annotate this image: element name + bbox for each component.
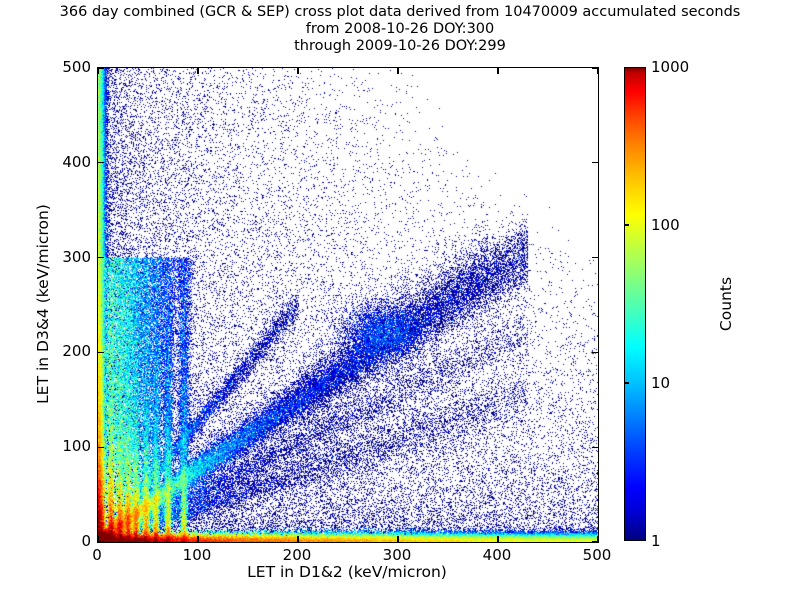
y-tick-mark: [592, 257, 598, 258]
x-tick-mark: [497, 68, 498, 74]
y-tick-mark: [98, 352, 104, 353]
y-tick-label: 400: [62, 153, 91, 171]
x-tick-label: 200: [283, 546, 312, 564]
colorbar-tick-mark: [624, 382, 629, 383]
y-tick-label: 500: [62, 58, 91, 76]
title-line-2: from 2008-10-26 DOY:300: [0, 21, 800, 38]
x-tick-label: 300: [383, 546, 412, 564]
x-tick-label: 500: [583, 546, 612, 564]
colorbar-label: Counts: [717, 67, 735, 541]
x-tick-label: 0: [92, 546, 102, 564]
colorbar-group: 1101001000: [624, 67, 646, 541]
x-tick-mark: [497, 536, 498, 542]
y-tick-label: 0: [81, 532, 91, 550]
y-tick-mark: [592, 352, 598, 353]
x-tick-mark: [297, 536, 298, 542]
colorbar-tick-label: 1000: [651, 58, 689, 76]
y-tick-mark: [592, 162, 598, 163]
x-tick-label: 400: [483, 546, 512, 564]
x-tick-mark: [397, 68, 398, 74]
y-axis-label: LET in D3&4 (keV/micron): [34, 67, 52, 541]
y-tick-mark: [98, 447, 104, 448]
scatter-density-canvas: [98, 68, 598, 542]
y-tick-mark: [592, 447, 598, 448]
y-tick-mark: [98, 67, 104, 68]
y-tick-label: 100: [62, 437, 91, 455]
y-tick-label: 200: [62, 342, 91, 360]
colorbar-tick-label: 100: [651, 216, 680, 234]
x-tick-mark: [297, 68, 298, 74]
y-tick-mark: [98, 162, 104, 163]
x-tick-mark: [197, 536, 198, 542]
x-tick-label: 100: [183, 546, 212, 564]
colorbar-tick-mark: [624, 224, 629, 225]
y-tick-label: 300: [62, 248, 91, 266]
y-tick-mark: [592, 67, 598, 68]
colorbar-tick-label: 1: [651, 532, 661, 550]
y-tick-mark: [98, 257, 104, 258]
chart-title: 366 day combined (GCR & SEP) cross plot …: [0, 4, 800, 55]
title-line-1: 366 day combined (GCR & SEP) cross plot …: [0, 4, 800, 21]
colorbar-gradient: [624, 67, 646, 541]
y-tick-mark: [98, 541, 104, 542]
x-tick-mark: [197, 68, 198, 74]
x-axis-label: LET in D1&2 (keV/micron): [97, 563, 597, 581]
x-tick-mark: [597, 68, 598, 74]
title-line-3: through 2009-10-26 DOY:299: [0, 38, 800, 55]
y-tick-mark: [592, 541, 598, 542]
plot-area: [97, 67, 599, 543]
x-tick-mark: [397, 536, 398, 542]
colorbar-tick-label: 10: [651, 374, 670, 392]
x-tick-mark: [97, 68, 98, 74]
